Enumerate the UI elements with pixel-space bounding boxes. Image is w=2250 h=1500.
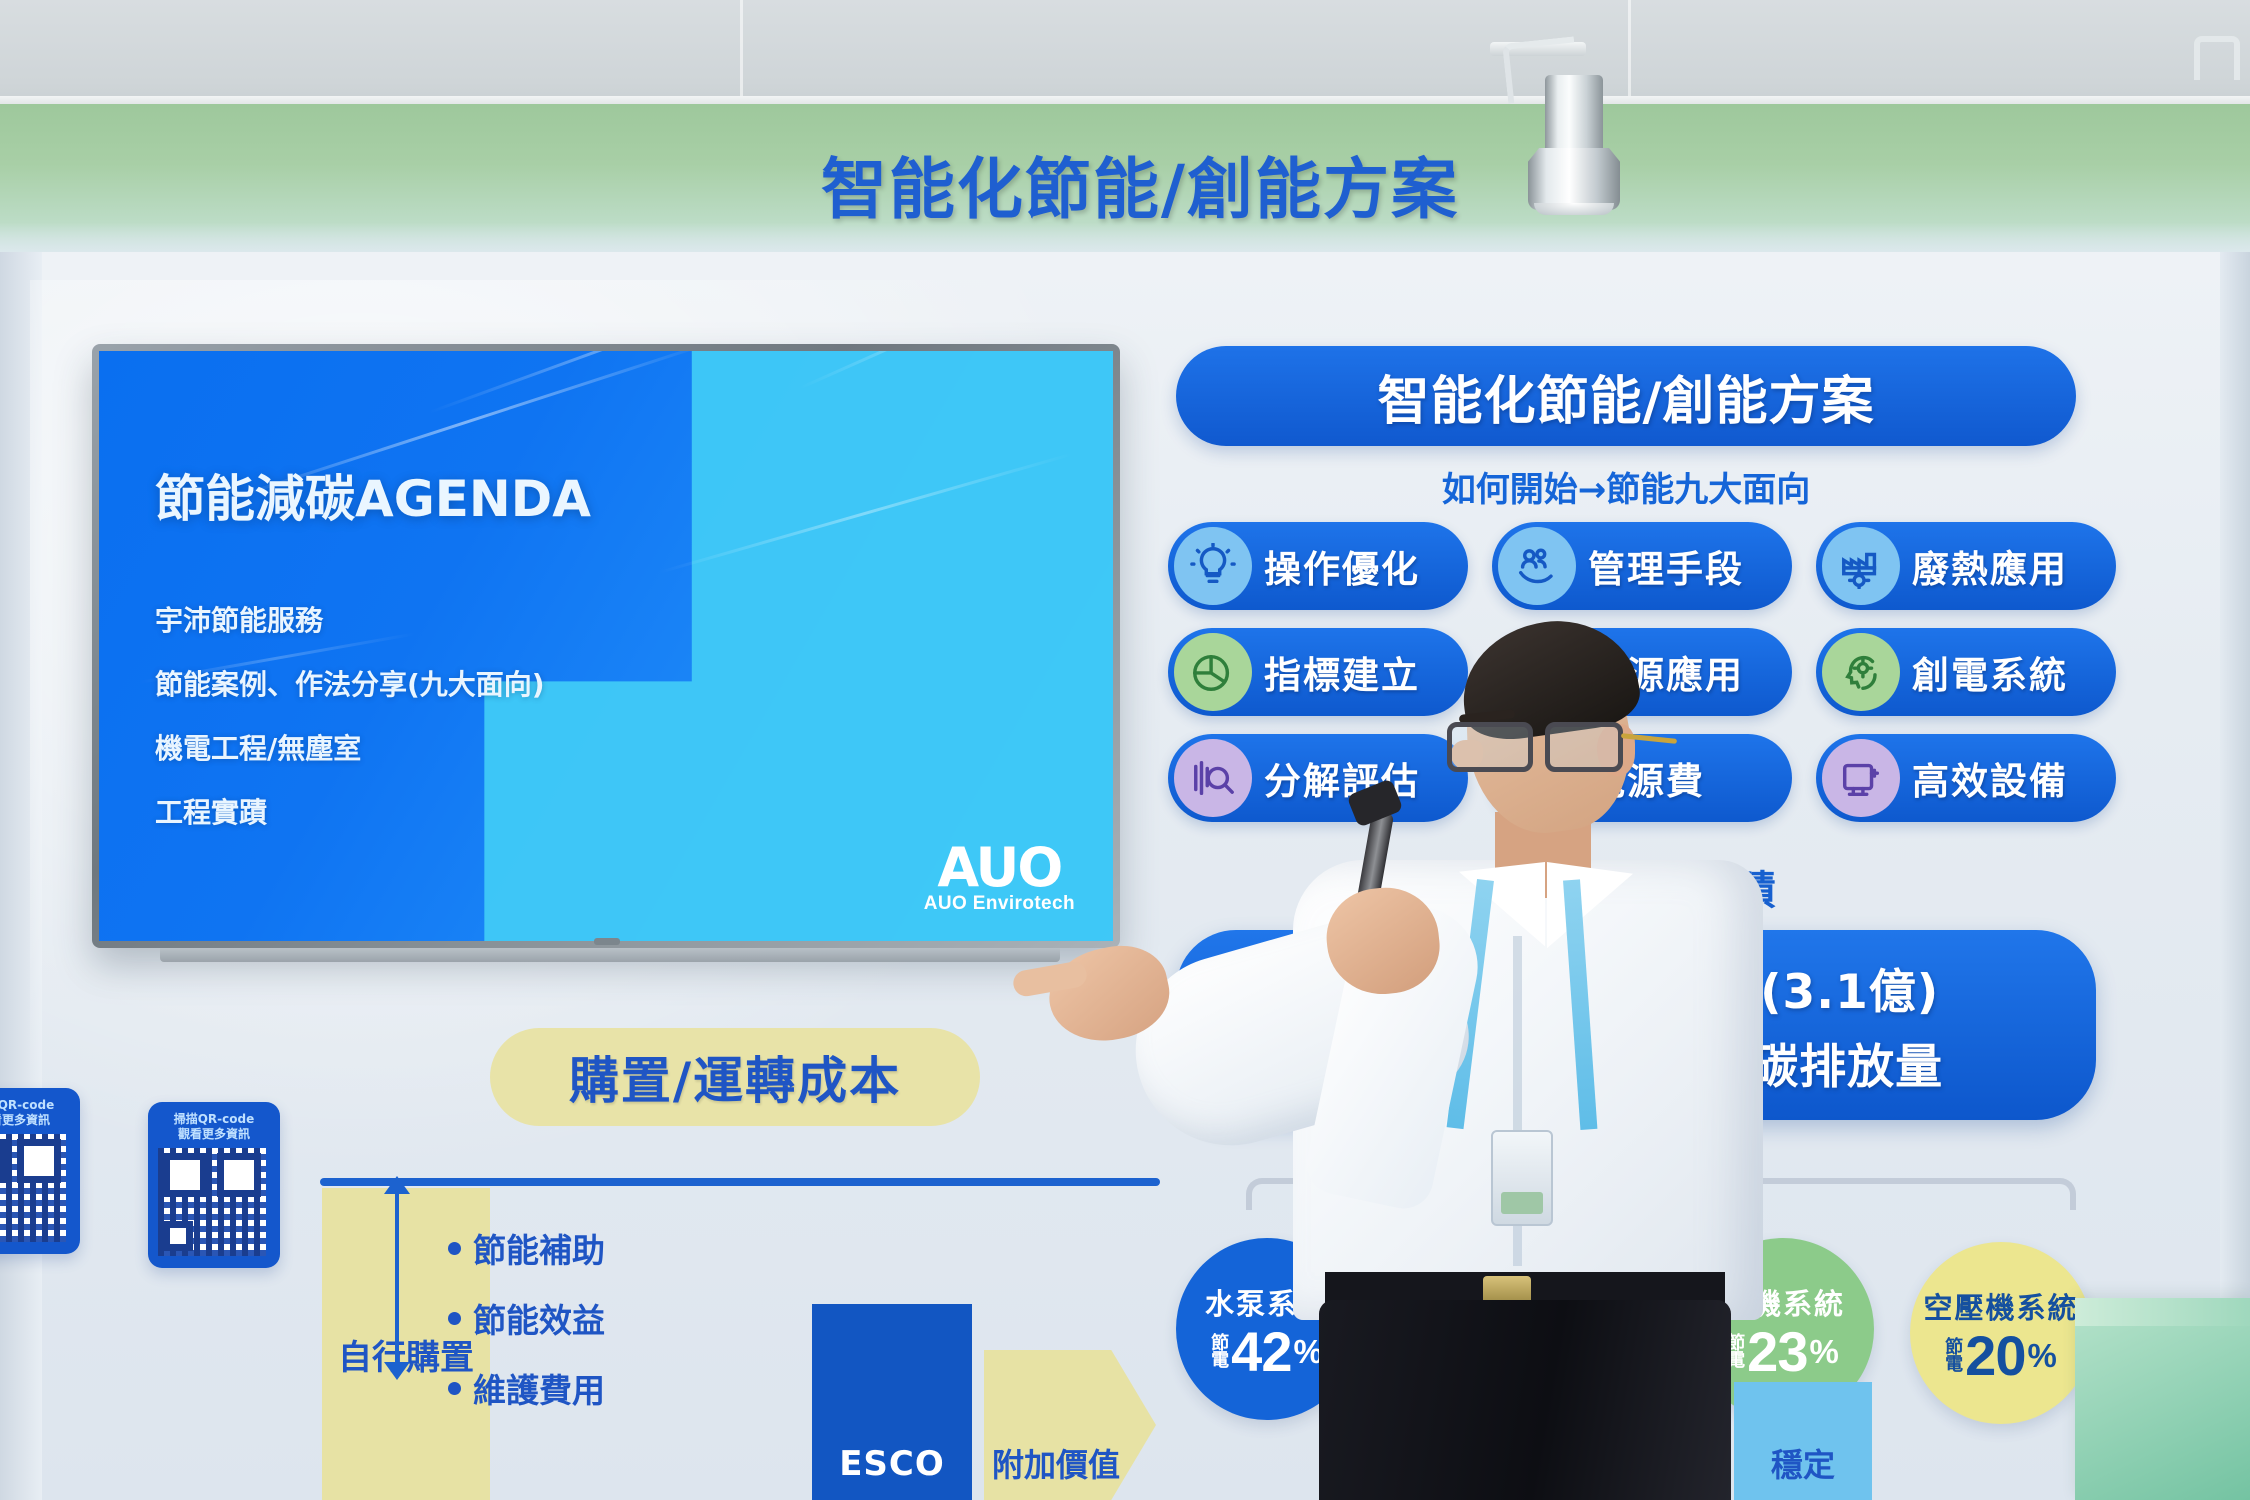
presenter-trousers: [1319, 1300, 1731, 1500]
aspect-label: 管理手段: [1588, 539, 1744, 593]
aspect-label: 創電系統: [1912, 645, 2068, 699]
qr-caption: 掃描QR-code 觀看更多資訊: [158, 1112, 270, 1142]
panel-spark-icon: [1822, 739, 1900, 817]
aspect-label: 高效設備: [1912, 751, 2068, 805]
cost-section-title: 購置/運轉成本: [569, 1041, 901, 1113]
added-value-label: 附加價值: [984, 1440, 1120, 1500]
aspect-chip-waste-heat-use[interactable]: 廢熱應用: [1816, 522, 2116, 610]
aspect-label: 廢熱應用: [1912, 539, 2068, 593]
connector-right-elbow: [2046, 1178, 2076, 1210]
added-value-callout: 附加價值: [984, 1350, 1156, 1500]
list-item: 機電工程/無塵室: [155, 727, 545, 767]
bubble-percent-sign: %: [1809, 1333, 1838, 1371]
auo-logo-mark: AUO: [924, 842, 1075, 893]
tv-screen: 節能減碳AGENDA 宇沛節能服務 節能案例、作法分享(九大面向) 機電工程/無…: [99, 351, 1113, 941]
auo-logo: AUO AUO Envirotech: [924, 842, 1075, 915]
hall-title: 智能化節能/創能方案: [690, 136, 1590, 232]
cost-comparison-chart: 自行購置 節能補助 節能效益 維護費用 ESCO 附加價值 維護 資訊 穩定: [300, 1178, 1160, 1500]
aspect-chip-high-efficiency-equipment[interactable]: 高效設備: [1816, 734, 2116, 822]
presenter: [1245, 636, 1765, 1500]
tv-power-led: [594, 938, 620, 945]
foreground-display-block-top: [2075, 1298, 2250, 1326]
bubble-percent-sign: %: [2027, 1337, 2056, 1375]
poster-title: 智能化節能/創能方案: [1378, 359, 1875, 434]
qr-card-primary[interactable]: 掃描QR-code 觀看更多資訊: [148, 1102, 280, 1268]
chart-bar-label: ESCO: [812, 1444, 972, 1484]
spotlight-body: [1545, 75, 1603, 153]
aspect-label: 操作優化: [1264, 539, 1420, 593]
qr-code-icon: [0, 1134, 66, 1242]
list-item: 宇沛節能服務: [155, 599, 545, 639]
microphone-head: [1346, 778, 1403, 828]
chart-bar-esco: ESCO: [812, 1304, 972, 1500]
qr-code-icon: [158, 1148, 266, 1256]
slide-agenda-list: 宇沛節能服務 節能案例、作法分享(九大面向) 機電工程/無塵室 工程實蹟: [155, 599, 545, 831]
list-item: 維護費用: [448, 1364, 605, 1412]
ceiling-panel-seam: [740, 0, 743, 100]
aspect-chip-power-generation-system[interactable]: 創電系統: [1816, 628, 2116, 716]
bubble-unit-line2: 電: [1211, 1352, 1229, 1369]
savings-bubble-air-compressor: 空壓機系統 節 電 20 %: [1910, 1242, 2092, 1424]
aspect-chip-operation-optimization[interactable]: 操作優化: [1168, 522, 1468, 610]
poster-title-pill: 智能化節能/創能方案: [1176, 346, 2076, 446]
tv-display: 節能減碳AGENDA 宇沛節能服務 節能案例、作法分享(九大面向) 機電工程/無…: [92, 344, 1120, 948]
aspect-chip-management-method[interactable]: 管理手段: [1492, 522, 1792, 610]
brain-idea-icon: [1822, 633, 1900, 711]
chart-annotation-list: 節能補助 節能效益 維護費用: [448, 1224, 605, 1434]
spotlight-lens: [1534, 203, 1614, 215]
ceiling-panel-seam: [1628, 0, 1631, 100]
pie-chart-icon: [1174, 633, 1252, 711]
cost-section-title-pill: 購置/運轉成本: [490, 1028, 980, 1126]
bubble-system-name: 空壓機系統: [1923, 1285, 2078, 1327]
factory-gear-icon: [1822, 527, 1900, 605]
slide-title: 節能減碳AGENDA: [155, 459, 591, 531]
bubble-unit-line2: 電: [1945, 1356, 1963, 1373]
lightbulb-icon: [1174, 527, 1252, 605]
people-hand-icon: [1498, 527, 1576, 605]
magnifier-data-icon: [1174, 739, 1252, 817]
glasses-icon: [1441, 722, 1641, 778]
bubble-value: 20: [1965, 1331, 2025, 1381]
list-item: 節能效益: [448, 1294, 605, 1342]
list-item: 工程實蹟: [155, 791, 545, 831]
foreground-display-block: [2075, 1298, 2250, 1500]
savings-gap-arrow: [395, 1190, 399, 1366]
poster-subtitle: 如何開始→節能九大面向: [1176, 462, 2076, 511]
qr-card-secondary[interactable]: 掃描QR-code 觀看更多資訊: [0, 1088, 80, 1254]
chart-top-rule: [320, 1178, 1160, 1186]
qr-caption: 掃描QR-code 觀看更多資訊: [0, 1098, 70, 1128]
auo-logo-subtitle: AUO Envirotech: [924, 893, 1075, 915]
list-item: 節能補助: [448, 1224, 605, 1272]
spotlight-head: [1528, 148, 1620, 210]
scene-root: 智能化節能/創能方案 節能減碳AGENDA 宇沛節能服務 節能案例、作法分享(九…: [0, 0, 2250, 1500]
tv-bottom-bezel: [160, 948, 1060, 962]
wall-edge-left: [0, 252, 42, 1500]
ceiling-bracket: [2194, 36, 2240, 80]
list-item: 節能案例、作法分享(九大面向): [155, 663, 545, 703]
presenter-badge: [1491, 1130, 1553, 1226]
